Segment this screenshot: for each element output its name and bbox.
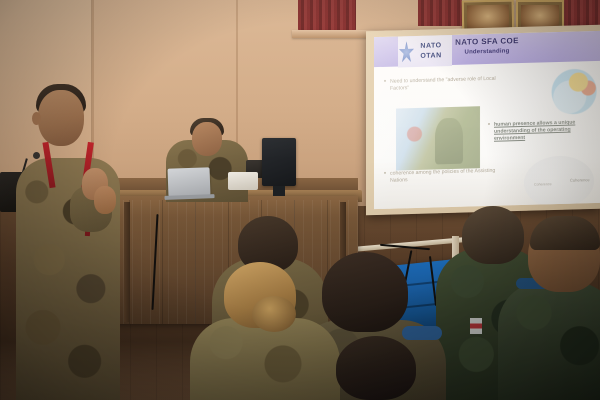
bullet-dot-icon [488,123,490,125]
presentation-room-photo: NATO SFA COE Understanding NATO OTAN Nee… [0,0,600,400]
black-monitor [262,138,296,186]
speaker-hand [94,186,116,214]
audience-collar [402,326,442,340]
audience-head [322,252,408,332]
otan-logo-text: OTAN [420,51,441,61]
slide-globe-graphic [540,65,600,119]
curtain [418,0,462,26]
audience-head [462,206,524,264]
nato-star-icon [399,41,414,63]
speaker-ear [32,112,41,125]
slide-photo-handshake [396,106,480,170]
bullet-dot-icon [384,80,386,82]
presentation-slide: NATO SFA COE Understanding NATO OTAN Nee… [374,31,600,209]
curtain [298,0,356,32]
coherence-label-secondary: Coherence [534,182,552,186]
audience-head [336,336,416,400]
slide-bullet-human-presence: human presence allows a unique understan… [494,119,598,143]
slide-bullet-coherence: coherence among the policies of the Assi… [390,168,502,185]
speaker-head [38,90,84,146]
silver-laptop [168,167,211,196]
desk-leg [124,202,130,322]
nato-logo: NATO OTAN [398,35,452,68]
nato-logo-text: NATO [420,41,441,51]
white-device-box [228,172,258,190]
coherence-label: Coherence [570,177,590,183]
microphone-icon [33,152,40,159]
audience-hair [530,216,600,250]
flag-shoulder-patch [470,318,482,334]
projection-screen: NATO SFA COE Understanding NATO OTAN Nee… [374,31,600,209]
seated-officer-head [192,122,222,156]
slide-bullet-adverse-role: Need to understand the "adverse role of … [390,76,502,93]
bullet-dot-icon [384,172,386,174]
hair-bun [252,296,296,332]
wall-seam [236,0,238,150]
audience-shoulders [498,282,600,400]
